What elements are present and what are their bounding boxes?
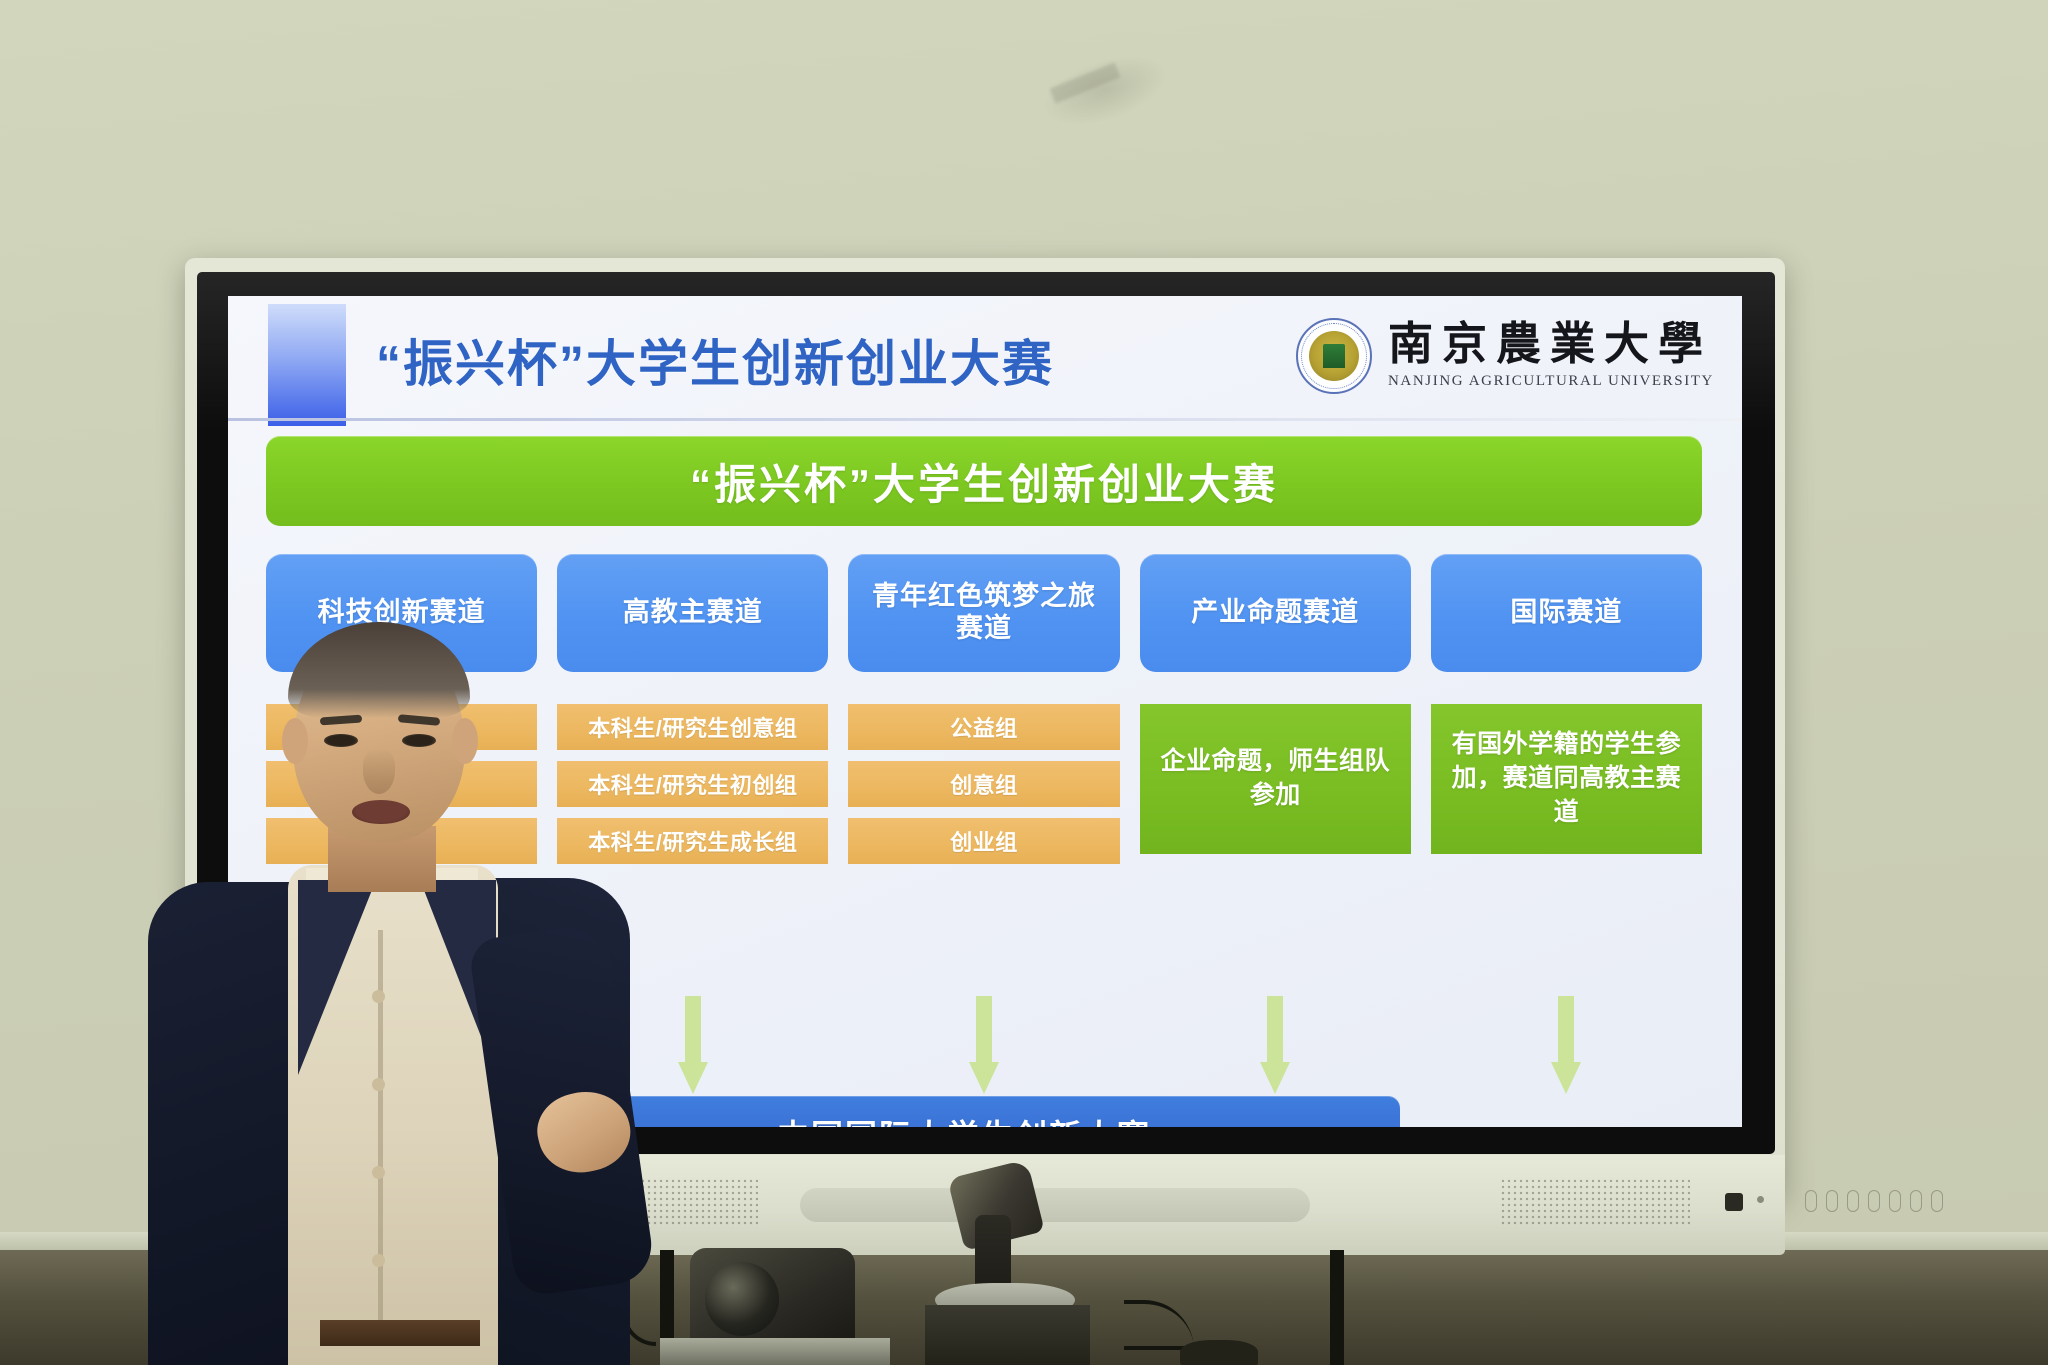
- shirt-button: [372, 1078, 385, 1091]
- ptz-camera-box: [925, 1305, 1090, 1365]
- belt: [320, 1320, 480, 1346]
- title-divider: [228, 418, 1742, 421]
- bezel-button[interactable]: [1910, 1190, 1922, 1212]
- bezel-button[interactable]: [1889, 1190, 1901, 1212]
- bezel-button[interactable]: [1805, 1190, 1817, 1212]
- final-competition-label: 中国国际大学生创新大赛: [777, 1111, 1151, 1127]
- slide-title: “振兴杯”大学生创新创业大赛: [376, 324, 1054, 396]
- track-box-chanye[interactable]: 产业命题赛道: [1140, 554, 1411, 672]
- mouth: [352, 800, 410, 824]
- arrow-cell: [848, 996, 1119, 1102]
- subgroup-label: 创业组: [950, 825, 1018, 857]
- ir-sensor-icon: [1725, 1193, 1743, 1211]
- competition-banner-label: “振兴杯”大学生创新创业大赛: [690, 451, 1278, 512]
- bezel-button[interactable]: [1826, 1190, 1838, 1212]
- university-seal-icon: [1296, 318, 1372, 394]
- track-label: 国际赛道: [1510, 597, 1622, 629]
- down-arrow-icon: [678, 996, 708, 1096]
- camera-base: [660, 1338, 890, 1365]
- track-note-label: 企业命题，师生组队参加: [1154, 745, 1397, 813]
- track-note-label: 有国外学籍的学生参加，赛道同高教主赛道: [1445, 728, 1688, 829]
- track-column: 国际赛道 有国外学籍的学生参加，赛道同高教主赛道: [1431, 554, 1702, 984]
- camera-lens-icon: [705, 1262, 779, 1336]
- down-arrow-icon: [1551, 996, 1581, 1096]
- logo-chinese-name: 南京農業大學: [1388, 322, 1714, 367]
- soundbar: [800, 1188, 1310, 1222]
- jacket-lapel-left: [298, 880, 376, 1075]
- subgroup-label: 创意组: [950, 768, 1018, 800]
- subgroup-item[interactable]: 创意组: [848, 761, 1119, 807]
- room-scene: “振兴杯”大学生创新创业大赛 南京農業大學 NANJING AGRICULTUR…: [0, 0, 2048, 1365]
- stand-post-right: [1330, 1250, 1344, 1365]
- bezel-button[interactable]: [1847, 1190, 1859, 1212]
- ear-left: [282, 718, 308, 764]
- university-logo: 南京農業大學 NANJING AGRICULTURAL UNIVERSITY: [1296, 318, 1714, 394]
- subgroup-item[interactable]: 公益组: [848, 704, 1119, 750]
- speaker-grille-right: [1500, 1178, 1690, 1226]
- seal-ring: [1301, 323, 1367, 389]
- ear-right: [452, 718, 478, 764]
- status-led-icon: [1757, 1196, 1764, 1203]
- down-arrow-icon: [1260, 996, 1290, 1096]
- eye-right: [402, 734, 436, 747]
- track-label: 青年红色筑梦之旅赛道: [858, 581, 1109, 645]
- title-decoration-bar: [268, 304, 346, 426]
- track-label: 高教主赛道: [623, 597, 763, 629]
- competition-banner: “振兴杯”大学生创新创业大赛: [266, 436, 1702, 526]
- final-competition-bar: 中国国际大学生创新大赛: [528, 1096, 1400, 1127]
- arrow-cell: [1431, 996, 1702, 1102]
- logo-english-name: NANJING AGRICULTURAL UNIVERSITY: [1388, 373, 1714, 390]
- shirt-button: [372, 1254, 385, 1267]
- track-note-guoji[interactable]: 有国外学籍的学生参加，赛道同高教主赛道: [1431, 704, 1702, 854]
- track-subgroups: 公益组 创意组 创业组: [848, 704, 1119, 864]
- eye-left: [324, 734, 358, 747]
- hair: [288, 622, 470, 718]
- logo-text-block: 南京農業大學 NANJING AGRICULTURAL UNIVERSITY: [1388, 322, 1714, 390]
- track-label: 产业命题赛道: [1191, 597, 1359, 629]
- nose: [363, 748, 395, 794]
- shirt-button: [372, 1166, 385, 1179]
- subgroup-item[interactable]: 创业组: [848, 818, 1119, 864]
- track-column: 青年红色筑梦之旅赛道 公益组 创意组 创业组: [848, 554, 1119, 984]
- down-arrow-icon: [969, 996, 999, 1096]
- subgroup-label: 公益组: [950, 711, 1018, 743]
- track-box-hongse[interactable]: 青年红色筑梦之旅赛道: [848, 554, 1119, 672]
- bezel-button[interactable]: [1868, 1190, 1880, 1212]
- track-column: 产业命题赛道 企业命题，师生组队参加: [1140, 554, 1411, 984]
- bezel-button[interactable]: [1931, 1190, 1943, 1212]
- bezel-button-row[interactable]: [1805, 1190, 1943, 1212]
- track-note-chanye[interactable]: 企业命题，师生组队参加: [1140, 704, 1411, 854]
- desk-object: [1180, 1340, 1258, 1365]
- arrow-cell: [1140, 996, 1411, 1102]
- track-box-guoji[interactable]: 国际赛道: [1431, 554, 1702, 672]
- presenter: [120, 630, 640, 1365]
